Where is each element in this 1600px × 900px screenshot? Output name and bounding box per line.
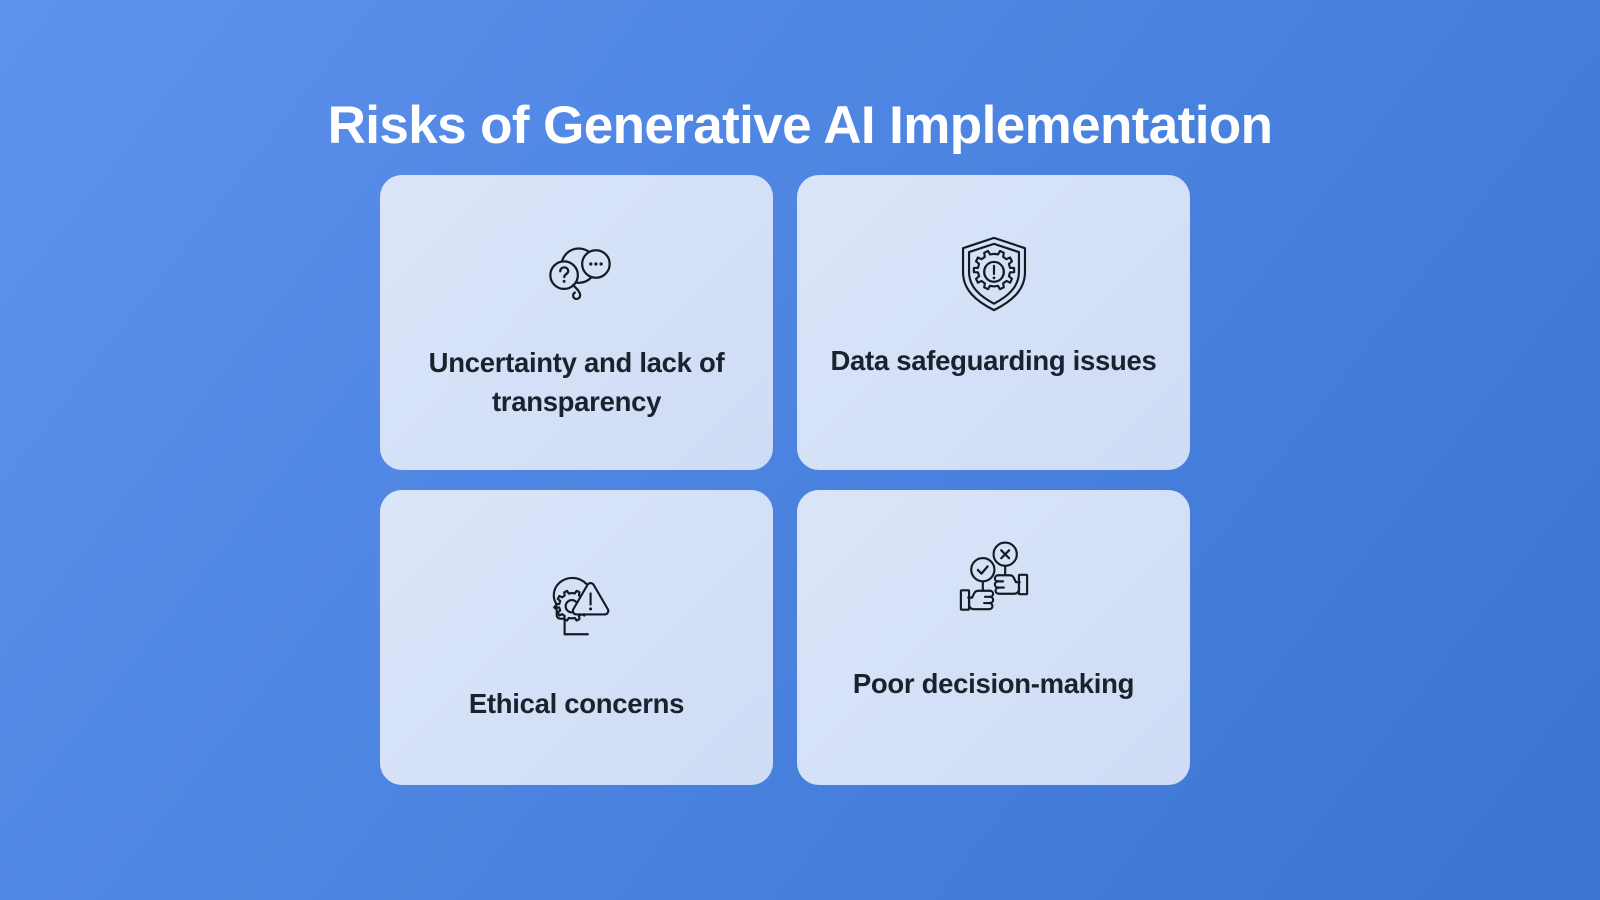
card-label: Data safeguarding issues — [829, 341, 1159, 380]
question-speech-bubbles-magnifier-icon — [534, 233, 620, 319]
card-label: Poor decision-making — [829, 664, 1159, 703]
page-title: Risks of Generative AI Implementation — [0, 98, 1600, 154]
card-content: Uncertainty and lack of transparency — [380, 175, 773, 470]
card-label: Ethical concerns — [412, 684, 742, 723]
head-gear-warning-triangle-icon — [534, 562, 620, 648]
card-content: Data safeguarding issues — [797, 175, 1190, 470]
risk-card-grid: Uncertainty and lack of transparency — [380, 175, 1190, 785]
risk-card-data-safeguarding[interactable]: Data safeguarding issues — [797, 175, 1190, 470]
risk-card-poor-decision-making[interactable]: Poor decision-making — [797, 490, 1190, 785]
shield-gear-alert-icon — [951, 231, 1037, 317]
card-content: Poor decision-making — [797, 490, 1190, 785]
hands-check-cross-signs-icon — [951, 540, 1037, 626]
infographic-slide: Risks of Generative AI Implementation — [0, 0, 1600, 900]
card-label: Uncertainty and lack of transparency — [412, 343, 742, 421]
risk-card-uncertainty[interactable]: Uncertainty and lack of transparency — [380, 175, 773, 470]
card-content: Ethical concerns — [380, 490, 773, 785]
risk-card-ethical-concerns[interactable]: Ethical concerns — [380, 490, 773, 785]
